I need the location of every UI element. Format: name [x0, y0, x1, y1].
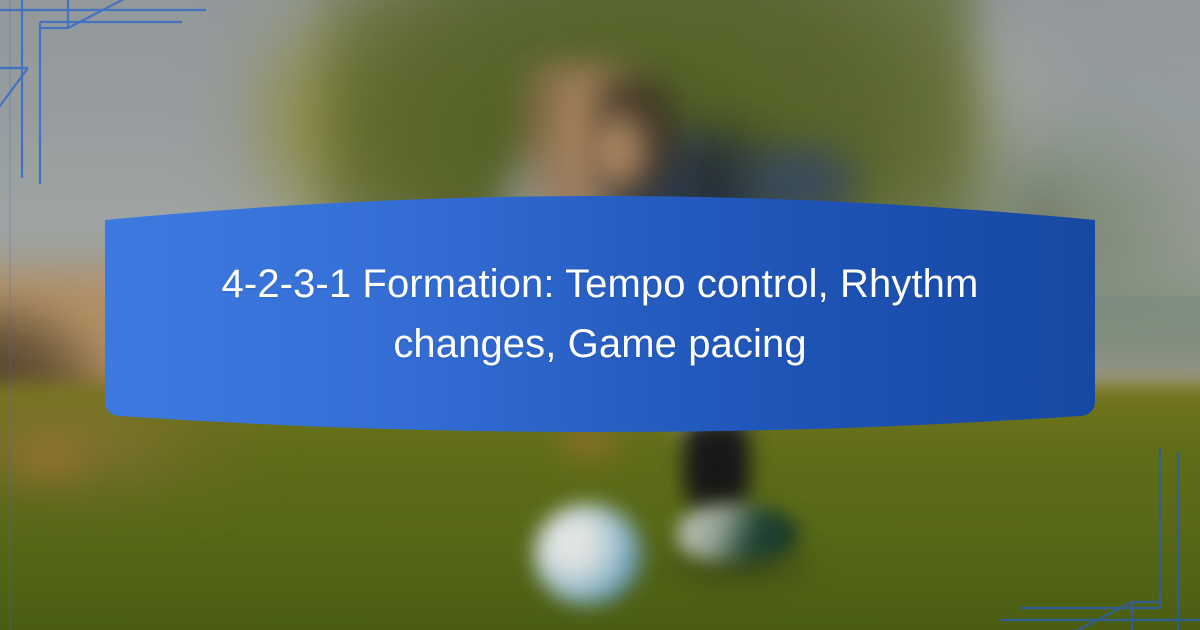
headline-banner: 4-2-3-1 Formation: Tempo control, Rhythm…	[97, 196, 1103, 432]
banner-headline: 4-2-3-1 Formation: Tempo control, Rhythm…	[200, 254, 1000, 374]
banner-text-block: 4-2-3-1 Formation: Tempo control, Rhythm…	[97, 196, 1103, 432]
banner-card: 4-2-3-1 Formation: Tempo control, Rhythm…	[0, 0, 1200, 630]
